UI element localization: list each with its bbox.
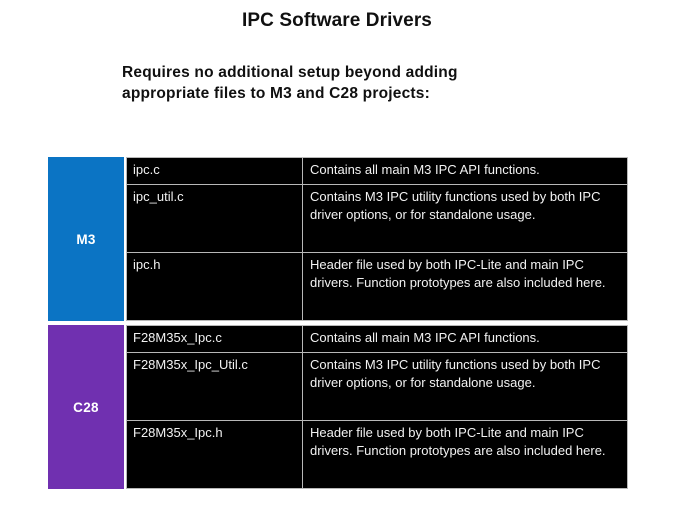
table-group-c28: C28 F28M35x_Ipc.c Contains all main M3 I… <box>48 325 628 489</box>
cell-description: Header file used by both IPC-Lite and ma… <box>303 253 627 320</box>
cell-description: Contains M3 IPC utility functions used b… <box>303 185 627 252</box>
subtitle-line-1: Requires no additional setup beyond addi… <box>122 62 622 83</box>
subtitle-line-2: appropriate files to M3 and C28 projects… <box>122 83 622 104</box>
group-label-c28: C28 <box>48 325 124 489</box>
cell-file-name: ipc_util.c <box>127 185 303 252</box>
table-row: ipc_util.c Contains M3 IPC utility funct… <box>126 184 628 252</box>
table-row: ipc.h Header file used by both IPC-Lite … <box>126 252 628 321</box>
group-rows-c28: F28M35x_Ipc.c Contains all main M3 IPC A… <box>126 325 628 489</box>
table-row: F28M35x_Ipc.c Contains all main M3 IPC A… <box>126 325 628 352</box>
table-group-m3: M3 ipc.c Contains all main M3 IPC API fu… <box>48 157 628 321</box>
slide: IPC Software Drivers Requires no additio… <box>0 0 674 506</box>
cell-description: Contains all main M3 IPC API functions. <box>303 158 627 184</box>
cell-description: Header file used by both IPC-Lite and ma… <box>303 421 627 488</box>
table-row: F28M35x_Ipc.h Header file used by both I… <box>126 420 628 489</box>
group-label-m3: M3 <box>48 157 124 321</box>
cell-file-name: F28M35x_Ipc.c <box>127 326 303 352</box>
page-title: IPC Software Drivers <box>0 10 674 32</box>
cell-file-name: F28M35x_Ipc.h <box>127 421 303 488</box>
cell-file-name: F28M35x_Ipc_Util.c <box>127 353 303 420</box>
cell-description: Contains all main M3 IPC API functions. <box>303 326 627 352</box>
cell-description: Contains M3 IPC utility functions used b… <box>303 353 627 420</box>
table-row: ipc.c Contains all main M3 IPC API funct… <box>126 157 628 184</box>
slide-subtitle: Requires no additional setup beyond addi… <box>122 62 622 104</box>
group-rows-m3: ipc.c Contains all main M3 IPC API funct… <box>126 157 628 321</box>
cell-file-name: ipc.c <box>127 158 303 184</box>
cell-file-name: ipc.h <box>127 253 303 320</box>
table-row: F28M35x_Ipc_Util.c Contains M3 IPC utili… <box>126 352 628 420</box>
driver-files-table: M3 ipc.c Contains all main M3 IPC API fu… <box>48 157 628 489</box>
